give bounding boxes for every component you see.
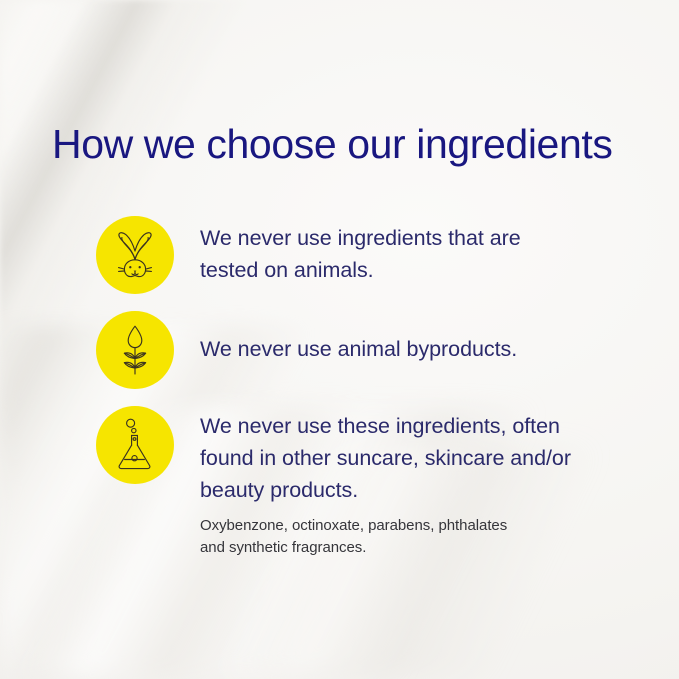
fineprint-block: Oxybenzone, octinoxate, parabens, phthal…: [200, 515, 636, 559]
body-line: We never use these ingredients, often: [200, 410, 636, 442]
benefit-list: We never use ingredients that are tested…: [96, 216, 636, 559]
badge-circle-1: [96, 216, 174, 294]
content-wrapper: How we choose our ingredients: [0, 0, 679, 679]
body-line: We never use ingredients that are: [200, 222, 636, 254]
body-line: found in other suncare, skincare and/or: [200, 442, 636, 474]
list-item-text-1: We never use ingredients that are tested…: [174, 216, 636, 286]
list-item-text-2: We never use animal byproducts.: [174, 311, 636, 365]
body-line: beauty products.: [200, 474, 636, 506]
badge-circle-3: [96, 406, 174, 484]
page-title: How we choose our ingredients: [52, 121, 612, 168]
plant-sprig-icon: [115, 324, 155, 376]
list-item: We never use animal byproducts.: [96, 311, 636, 389]
fineprint-line: and synthetic fragrances.: [200, 537, 636, 559]
flask-bubbles-icon: [114, 418, 156, 472]
bunny-heart-ears-icon: [112, 230, 158, 280]
fineprint-line: Oxybenzone, octinoxate, parabens, phthal…: [200, 515, 636, 537]
list-item-text-3: We never use these ingredients, often fo…: [174, 406, 636, 559]
body-line: tested on animals.: [200, 254, 636, 286]
badge-circle-2: [96, 311, 174, 389]
list-item: We never use these ingredients, often fo…: [96, 406, 636, 559]
body-line: We never use animal byproducts.: [200, 333, 636, 365]
list-item: We never use ingredients that are tested…: [96, 216, 636, 294]
ingredient-philosophy-panel: How we choose our ingredients: [0, 0, 679, 679]
